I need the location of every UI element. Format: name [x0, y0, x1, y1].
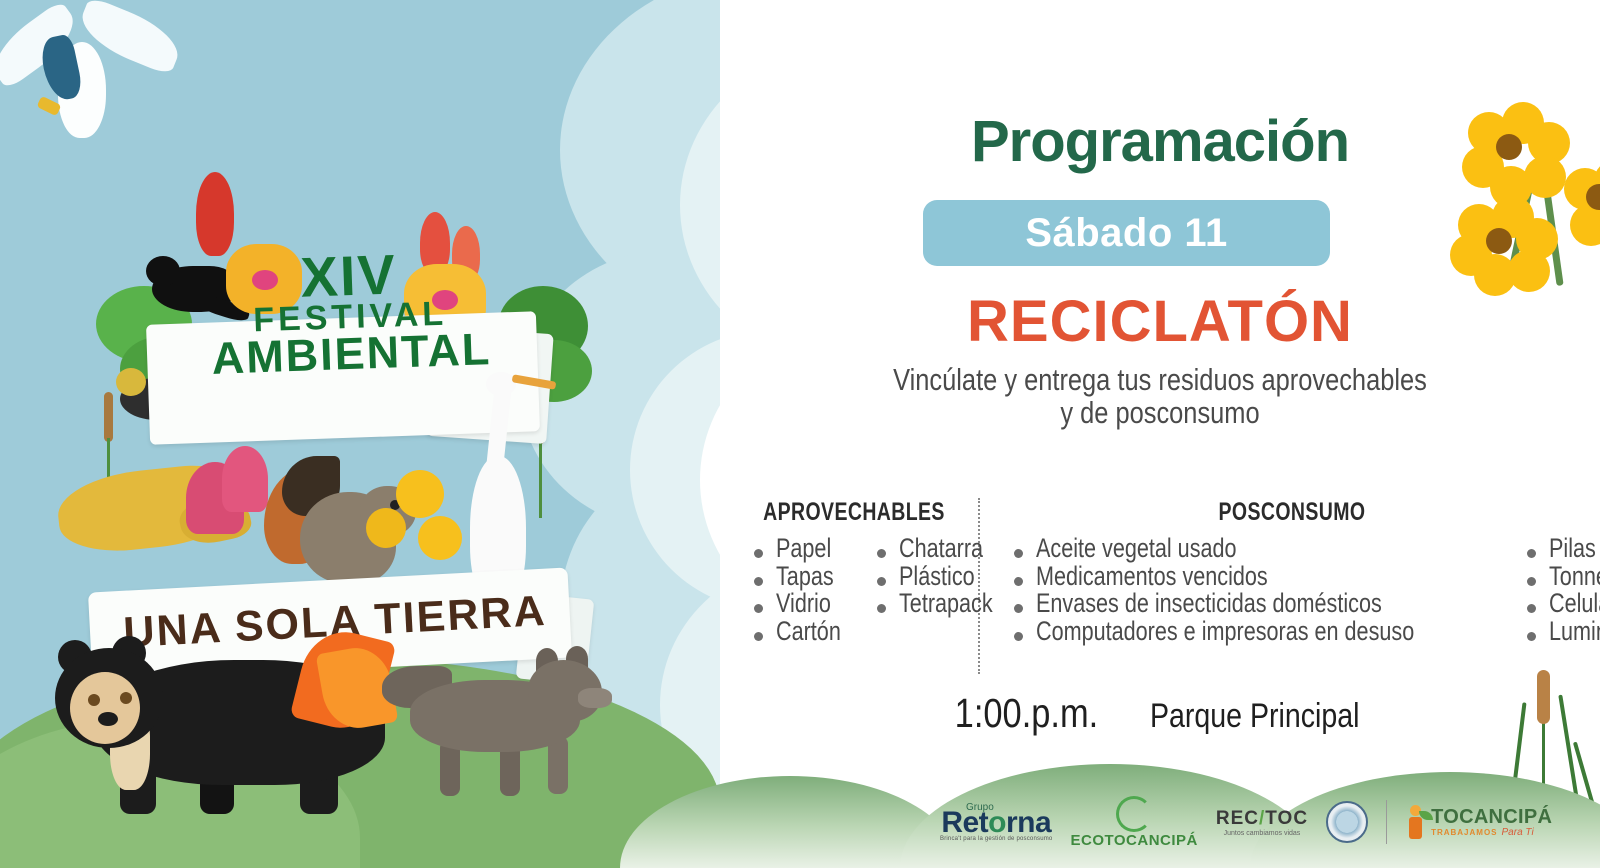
cattail-stem	[539, 440, 542, 518]
tocancipa-sub: TRABAJAMOS	[1431, 828, 1497, 837]
rectoc-word-b: TOC	[1265, 808, 1308, 829]
section-aprovechables: APROVECHABLES Papel Tapas Vidrio Cartón …	[730, 498, 978, 645]
list-item: Cartón	[750, 618, 857, 646]
item-label: Tapas	[776, 563, 834, 591]
list-item: Tonner	[1523, 563, 1600, 591]
festival-word-ambiental: AMBIENTAL	[151, 326, 552, 381]
item-label: Medicamentos vencidos	[1036, 563, 1268, 591]
eco-wordmark: ECOTOCANCIPÁ	[1070, 832, 1197, 849]
event-poster: XIV FESTIVAL AMBIENTAL UNA SOLA TIERRA	[0, 0, 1600, 868]
posconsumo-column-2: Pilas Tonner Celulares Luminarias	[1523, 535, 1600, 645]
page-title: Programación	[720, 108, 1600, 175]
item-label: Envases de insecticidas domésticos	[1036, 590, 1382, 618]
white-hawk-icon	[0, 0, 160, 130]
item-label: Chatarra	[899, 535, 983, 563]
item-label: Papel	[776, 535, 831, 563]
event-subtitle-line-2: y de posconsumo	[816, 397, 1505, 430]
yellow-flower-icon	[396, 470, 444, 518]
yellow-bird-head	[116, 368, 146, 396]
rectoc-word-a: REC	[1216, 808, 1259, 829]
logo-grupo-retorna: Grupo Retorna Brinca't para la gestión d…	[940, 802, 1052, 842]
date-badge: Sábado 11	[923, 200, 1330, 266]
yellow-flower-icon	[366, 508, 406, 548]
logo-rec-toc: REC/TOC Juntos cambiamos vidas	[1216, 808, 1308, 837]
bear-eye	[120, 692, 132, 704]
festival-illustration: XIV FESTIVAL AMBIENTAL UNA SOLA TIERRA	[0, 0, 740, 868]
item-label: Cartón	[776, 618, 841, 646]
accepted-materials: APROVECHABLES Papel Tapas Vidrio Cartón …	[720, 498, 1600, 678]
logo-ecotocancipa: ECOTOCANCIPÁ	[1070, 796, 1197, 849]
rectoc-tagline: Juntos cambiamos vidas	[1224, 830, 1301, 837]
section-posconsumo: POSCONSUMO Aceite vegetal usado Medicame…	[992, 498, 1592, 645]
heron-head	[486, 372, 516, 396]
list-item: Pilas	[1523, 535, 1600, 563]
event-subtitle-line-1: Vincúlate y entrega tus residuos aprovec…	[816, 364, 1505, 397]
event-time: 1:00.p.m.	[941, 690, 1112, 736]
list-item: Luminarias	[1523, 618, 1600, 646]
aprovechables-column-1: Papel Tapas Vidrio Cartón	[750, 535, 857, 645]
eco-swirl-icon	[1116, 796, 1152, 832]
list-item: Envases de insecticidas domésticos	[1010, 590, 1509, 618]
posconsumo-column-1: Aceite vegetal usado Medicamentos vencid…	[1010, 535, 1509, 645]
date-badge-label: Sábado 11	[1025, 211, 1227, 256]
list-item: Aceite vegetal usado	[1010, 535, 1509, 563]
section-heading-posconsumo: POSCONSUMO	[1058, 498, 1526, 527]
tocancipa-wordmark: TOCANCIPÁ	[1431, 807, 1552, 827]
cattail-icon	[104, 392, 113, 442]
municipality-seal-icon	[1326, 801, 1368, 843]
item-label: Aceite vegetal usado	[1036, 535, 1237, 563]
item-label: Celulares	[1549, 590, 1600, 618]
rectoc-wordmark: REC/TOC	[1216, 808, 1308, 830]
red-heliconia-icon	[196, 172, 234, 256]
bear-snout	[98, 712, 118, 726]
tocancipa-figure-icon	[1405, 805, 1427, 839]
item-label: Plástico	[899, 563, 975, 591]
item-label: Computadores e impresoras en desuso	[1036, 618, 1414, 646]
yellow-flower-icon	[418, 516, 462, 560]
bear-face-mask	[70, 672, 140, 744]
section-heading-aprovechables: APROVECHABLES	[757, 498, 950, 527]
retorna-word-a: Ret	[941, 806, 988, 839]
tocancipa-script: Para Ti	[1502, 827, 1534, 838]
retorna-word-b: rna	[1006, 806, 1051, 839]
list-item: Medicamentos vencidos	[1010, 563, 1509, 591]
event-time-place: 1:00.p.m. Parque Principal	[720, 690, 1600, 737]
retorna-o-icon: o	[988, 806, 1006, 839]
list-item: Computadores e impresoras en desuso	[1010, 618, 1509, 646]
logo-tocancipa: TOCANCIPÁ TRABAJAMOS Para Ti	[1405, 805, 1552, 839]
pink-flower-icon	[222, 446, 268, 512]
program-panel: Programación Sábado 11 RECICLATÓN Vincúl…	[720, 0, 1600, 868]
event-subtitle: Vincúlate y entrega tus residuos aprovec…	[816, 364, 1505, 429]
event-title: RECICLATÓN	[720, 288, 1600, 355]
list-item: Vidrio	[750, 590, 857, 618]
list-item: Celulares	[1523, 590, 1600, 618]
list-item: Tapas	[750, 563, 857, 591]
festival-title: XIV FESTIVAL AMBIENTAL	[148, 243, 552, 381]
item-label: Luminarias	[1549, 618, 1600, 646]
item-label: Vidrio	[776, 590, 831, 618]
fox-snout	[578, 688, 612, 708]
logo-separator	[1386, 800, 1387, 844]
sponsor-logos: Grupo Retorna Brinca't para la gestión d…	[940, 784, 1600, 860]
retorna-wordmark: Retorna	[941, 809, 1051, 836]
event-place: Parque Principal	[1130, 697, 1379, 735]
item-label: Pilas	[1549, 535, 1596, 563]
item-label: Tetrapack	[899, 590, 993, 618]
item-label: Tonner	[1549, 563, 1600, 591]
list-item: Papel	[750, 535, 857, 563]
bear-eye	[88, 694, 100, 706]
